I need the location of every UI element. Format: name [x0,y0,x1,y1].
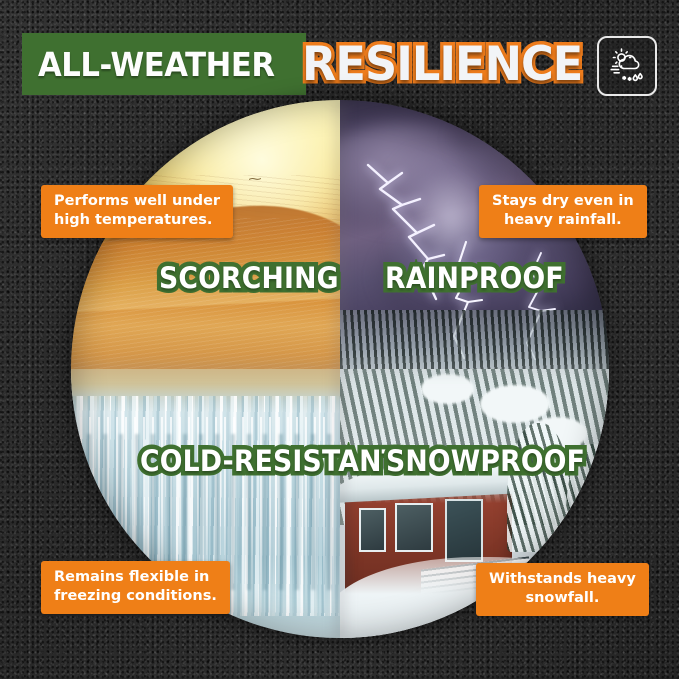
distant-treeline [340,310,609,369]
label-snowproof: SNOWPROOF [386,444,585,478]
callout-snowproof: Withstands heavy snowfall. [476,563,649,616]
cabin-door [445,499,482,562]
callout-scorching: Performs well under high temperatures. [41,185,233,238]
snow-clump [421,374,475,404]
title-all-weather: ALL-WEATHER [38,45,275,84]
snow-clump [480,385,550,423]
callout-cold-resistant: Remains flexible in freezing conditions. [41,561,230,614]
bird-silhouette [249,175,265,182]
title-resilience: RESILIENCE [302,37,582,92]
callout-rainproof: Stays dry even in heavy rainfall. [479,185,647,238]
title-secondary: RESILIENCE [302,33,597,95]
cabin-window [395,503,432,552]
title-primary-badge: ALL-WEATHER [22,33,306,95]
weather-circle [71,100,609,638]
label-scorching: SCORCHING [159,261,339,295]
cabin-window [359,508,386,552]
header-banner: ALL-WEATHER RESILIENCE [22,33,657,95]
infographic-canvas: ALL-WEATHER RESILIENCE [0,0,679,679]
sun-cloud-wind-snow-rain-icon [607,46,647,86]
label-rainproof: RAINPROOF [385,261,564,295]
weather-badge [597,36,657,96]
label-cold-resistant: COLD-RESISTANT [140,444,400,478]
title-group: ALL-WEATHER RESILIENCE [22,33,597,95]
